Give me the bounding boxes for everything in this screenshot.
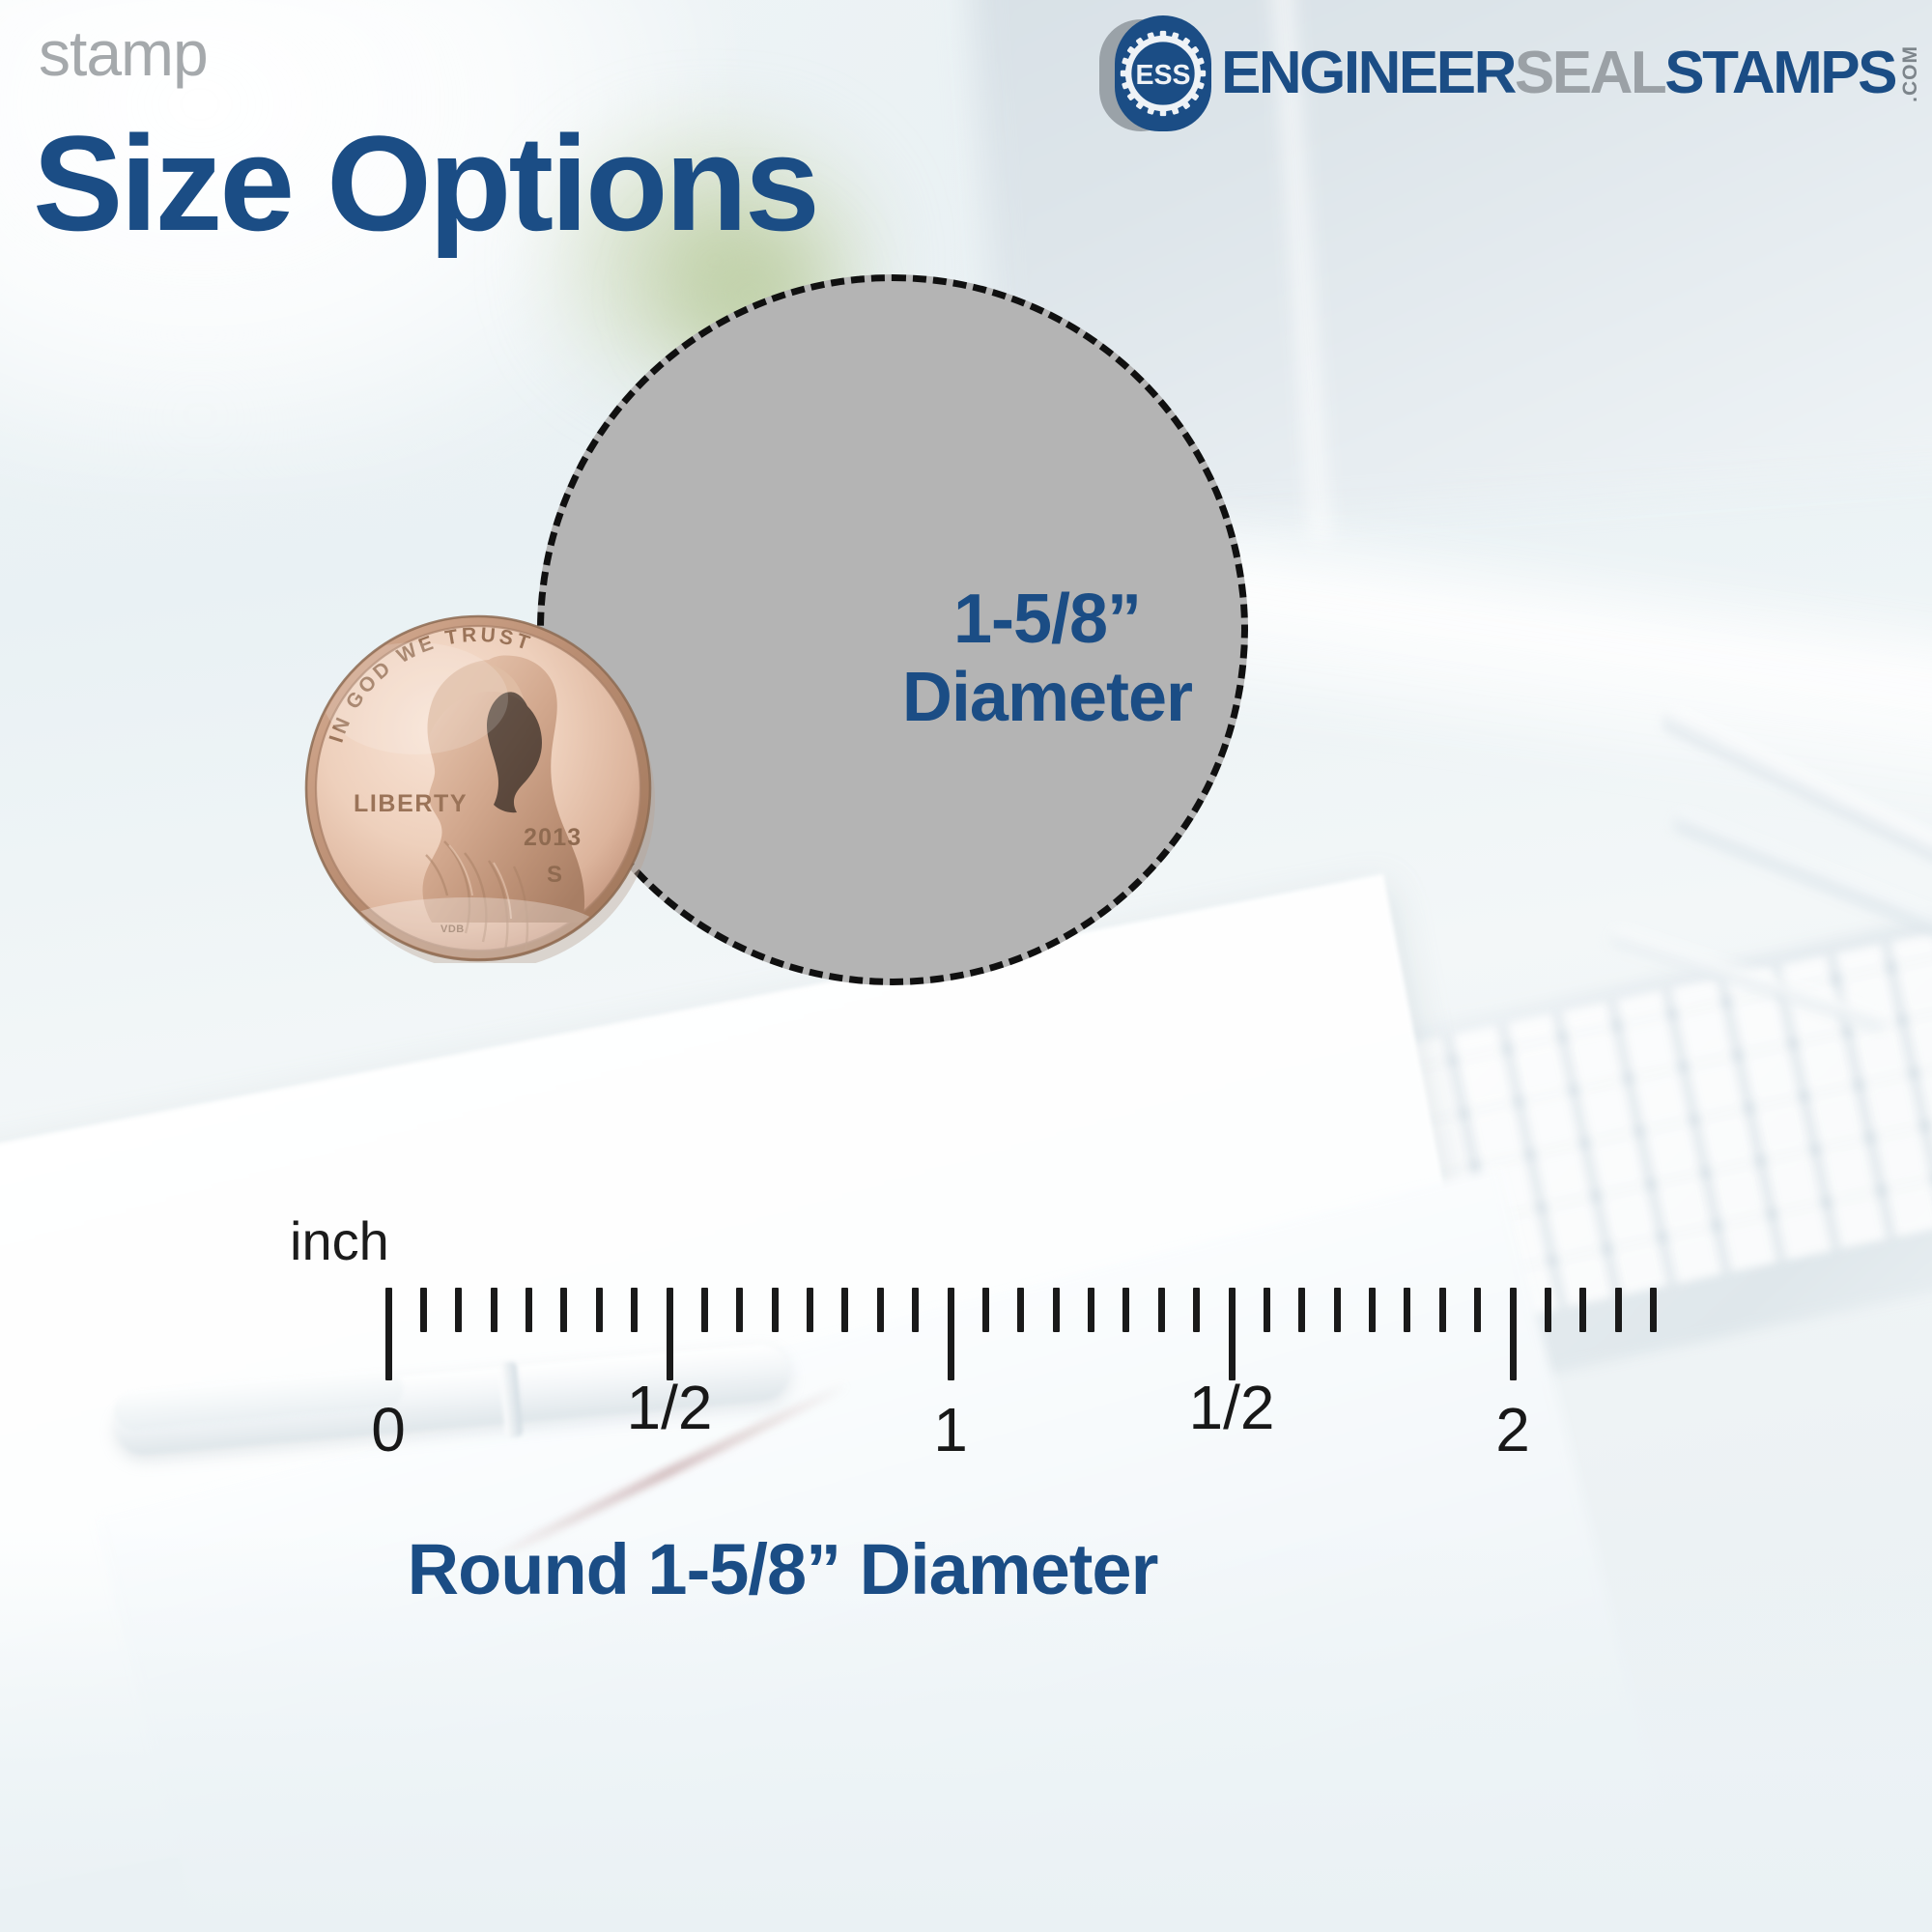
- logo-word-seal: SEAL: [1515, 43, 1664, 103]
- size-circle-label-group: 1-5/8” Diameter: [902, 581, 1192, 736]
- size-circle-diameter-word: Diameter: [902, 659, 1192, 737]
- logo-word-stamps: STAMPS: [1664, 43, 1895, 103]
- logo-word-engineer: ENGINEER: [1221, 43, 1515, 103]
- page-title: Size Options: [33, 116, 817, 251]
- logo-tld: .COM: [1900, 45, 1920, 102]
- size-circle-dimension: 1-5/8”: [902, 581, 1192, 659]
- coin-liberty: LIBERTY: [354, 790, 468, 817]
- size-options-graphic: stamp Size Options: [0, 0, 1932, 1932]
- kicker-label: stamp: [39, 21, 208, 85]
- ess-badge: ESS: [1099, 14, 1215, 133]
- badge-shield: ESS: [1115, 15, 1211, 131]
- gear-icon: ESS: [1119, 29, 1207, 118]
- penny-coin: IN GOD WE TRUST LIBERTY 2013 S VDB: [299, 613, 657, 963]
- badge-initials: ESS: [1136, 60, 1191, 91]
- size-caption: Round 1-5/8” Diameter: [0, 1534, 1565, 1605]
- logo-wordmark: ENGINEER SEAL STAMPS .COM: [1221, 43, 1920, 103]
- brand-logo[interactable]: ESS ENGINEER SEAL STAMPS .COM: [1099, 14, 1920, 133]
- coin-mintmark: S: [547, 862, 562, 888]
- coin-year: 2013: [524, 824, 582, 851]
